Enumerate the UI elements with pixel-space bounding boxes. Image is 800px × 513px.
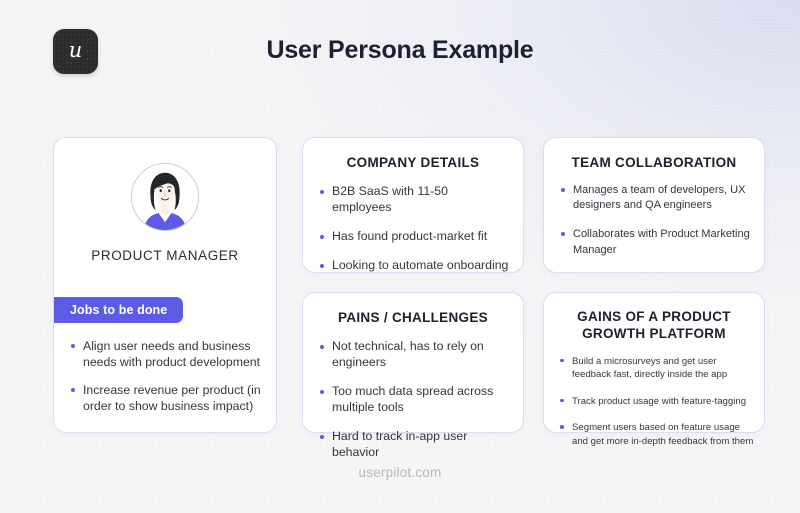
list-item: Increase revenue per product (in order t… (70, 382, 264, 415)
gains-list: Build a microsurveys and get user feedba… (544, 355, 764, 449)
pains-challenges-title: PAINS / CHALLENGES (303, 293, 523, 325)
list-item-text: Has found product-market fit (332, 229, 487, 243)
list-item-text: Increase revenue per product (in order t… (83, 383, 261, 413)
footer-website: userpilot.com (0, 465, 800, 480)
list-item-text: Build a microsurveys and get user feedba… (572, 356, 727, 381)
jobs-to-be-done-label: Jobs to be done (70, 303, 167, 317)
list-item: Collaborates with Product Marketing Mana… (560, 227, 750, 257)
list-item: Not technical, has to rely on engineers (319, 339, 509, 371)
team-collaboration-list: Manages a team of developers, UX designe… (544, 183, 764, 258)
company-details-title: COMPANY DETAILS (303, 138, 523, 170)
jobs-to-be-done-list: Align user needs and business needs with… (70, 338, 264, 414)
list-item-text: Looking to automate onboarding (332, 258, 508, 272)
company-details-list: B2B SaaS with 11-50 employees Has found … (303, 184, 523, 274)
list-item-text: Segment users based on feature usage and… (572, 422, 753, 447)
company-details-card: COMPANY DETAILS B2B SaaS with 11-50 empl… (302, 137, 524, 273)
team-collaboration-title: TEAM COLLABORATION (544, 138, 764, 170)
gains-title-line1: GAINS OF A PRODUCT (544, 308, 764, 325)
header: u User Persona Example (0, 0, 800, 106)
list-item: Manages a team of developers, UX designe… (560, 183, 750, 213)
persona-role-label: PRODUCT MANAGER (54, 248, 276, 263)
list-item: Track product usage with feature-tagging (559, 395, 754, 409)
persona-card: PRODUCT MANAGER Jobs to be done Align us… (53, 137, 277, 433)
list-item: Too much data spread across multiple too… (319, 384, 509, 416)
list-item-text: Not technical, has to rely on engineers (332, 339, 484, 369)
gains-title-line2: GROWTH PLATFORM (544, 325, 764, 342)
list-item-text: Too much data spread across multiple too… (332, 384, 493, 414)
list-item: Build a microsurveys and get user feedba… (559, 355, 754, 382)
list-item-text: Hard to track in-app user behavior (332, 429, 467, 459)
list-item-text: Align user needs and business needs with… (83, 339, 260, 369)
list-item-text: Manages a team of developers, UX designe… (573, 184, 745, 211)
product-manager-avatar (131, 163, 199, 231)
gains-card: GAINS OF A PRODUCT GROWTH PLATFORM Build… (543, 292, 765, 433)
pains-challenges-card: PAINS / CHALLENGES Not technical, has to… (302, 292, 524, 433)
page-title: User Persona Example (0, 36, 800, 65)
jobs-to-be-done-badge: Jobs to be done (53, 297, 183, 323)
poster-background: u User Persona Example (0, 0, 800, 513)
team-collaboration-card: TEAM COLLABORATION Manages a team of dev… (543, 137, 765, 273)
list-item-text: B2B SaaS with 11-50 employees (332, 184, 448, 214)
list-item: Looking to automate onboarding (319, 258, 509, 274)
list-item: B2B SaaS with 11-50 employees (319, 184, 509, 216)
list-item-text: Track product usage with feature-tagging (572, 396, 746, 407)
list-item: Align user needs and business needs with… (70, 338, 264, 371)
list-item-text: Collaborates with Product Marketing Mana… (573, 228, 750, 255)
pains-challenges-list: Not technical, has to rely on engineers … (303, 339, 523, 461)
list-item: Segment users based on feature usage and… (559, 421, 754, 448)
list-item: Hard to track in-app user behavior (319, 429, 509, 461)
list-item: Has found product-market fit (319, 229, 509, 245)
gains-title: GAINS OF A PRODUCT GROWTH PLATFORM (544, 293, 764, 343)
